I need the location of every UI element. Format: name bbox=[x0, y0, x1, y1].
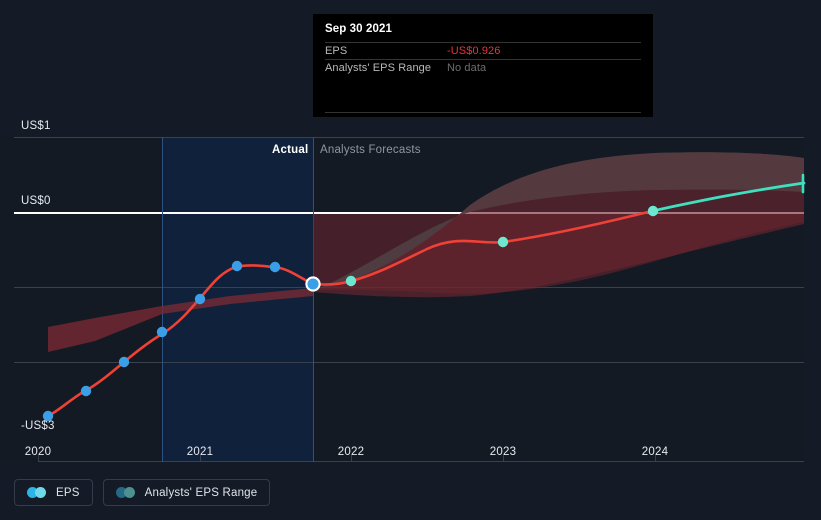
eps-point-marker[interactable] bbox=[195, 294, 205, 304]
x-axis-label-2022: 2022 bbox=[338, 446, 364, 458]
eps-point-marker[interactable] bbox=[119, 357, 129, 367]
y-axis-label-us-minus3: -US$3 bbox=[21, 420, 55, 432]
eps-point-marker[interactable] bbox=[232, 261, 242, 271]
legend-item-eps[interactable]: EPS bbox=[14, 479, 93, 506]
tooltip-row-eps: EPS -US$0.926 bbox=[325, 42, 641, 59]
analysts-range-band-forecast-tail bbox=[313, 214, 804, 294]
eps-forecast-point-marker[interactable] bbox=[648, 206, 658, 216]
eps-swatch-icon bbox=[27, 487, 47, 498]
hover-tooltip: Sep 30 2021 EPS -US$0.926 Analysts' EPS … bbox=[313, 14, 653, 117]
x-axis-label-2023: 2023 bbox=[490, 446, 516, 458]
legend-item-analysts-eps-range[interactable]: Analysts' EPS Range bbox=[103, 479, 271, 506]
eps-forecast-chart: US$1 US$0 -US$3 2020 2021 2022 2023 2024… bbox=[0, 0, 821, 520]
x-axis-label-2020: 2020 bbox=[25, 446, 51, 458]
y-axis-label-us1: US$1 bbox=[21, 120, 51, 132]
x-axis-label-2021: 2021 bbox=[187, 446, 213, 458]
y-axis-label-us0: US$0 bbox=[21, 195, 51, 207]
legend-label-analysts-eps-range: Analysts' EPS Range bbox=[145, 487, 258, 499]
x-axis-label-2024: 2024 bbox=[642, 446, 668, 458]
eps-forecast-point-marker[interactable] bbox=[346, 276, 356, 286]
eps-point-marker[interactable] bbox=[81, 386, 91, 396]
chart-legend: EPS Analysts' EPS Range bbox=[14, 479, 270, 506]
tooltip-key-eps: EPS bbox=[325, 45, 447, 57]
eps-point-marker[interactable] bbox=[270, 262, 280, 272]
tooltip-value-analysts-range: No data bbox=[447, 62, 486, 74]
tooltip-title: Sep 30 2021 bbox=[325, 23, 641, 42]
eps-point-marker-highlighted[interactable] bbox=[306, 277, 319, 290]
legend-label-eps: EPS bbox=[56, 487, 80, 499]
tooltip-key-analysts-range: Analysts' EPS Range bbox=[325, 62, 447, 74]
tooltip-spacer bbox=[325, 76, 641, 112]
phase-label-actual: Actual bbox=[272, 144, 308, 156]
analysts-range-swatch-icon bbox=[116, 487, 136, 498]
eps-point-marker[interactable] bbox=[157, 327, 167, 337]
eps-forecast-point-marker[interactable] bbox=[498, 237, 508, 247]
tooltip-value-eps: -US$0.926 bbox=[447, 45, 501, 57]
tooltip-footer-divider bbox=[325, 112, 641, 113]
phase-label-forecast: Analysts Forecasts bbox=[320, 144, 421, 156]
tooltip-row-analysts-range: Analysts' EPS Range No data bbox=[325, 59, 641, 76]
